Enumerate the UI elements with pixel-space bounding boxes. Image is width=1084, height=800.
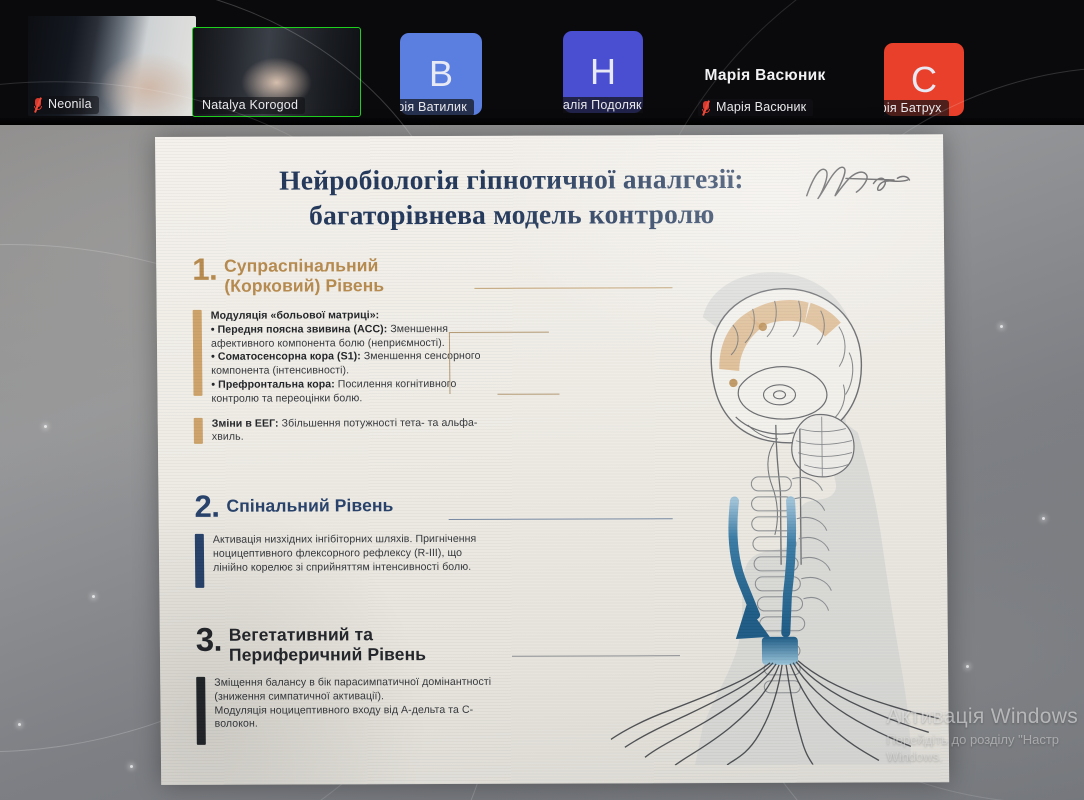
section-2-number: 2. (194, 492, 219, 522)
slide-title-line-2: багаторівнева модель контролю (192, 196, 832, 233)
section-1-number: 1. (192, 255, 217, 285)
section-3-title: Вегетативний та Периферичний Рівень (229, 623, 427, 665)
slide-section-3: 3. Вегетативний та Периферичний Рівень З… (196, 623, 517, 745)
connector-line-s1 (497, 394, 559, 395)
slide-title-line-1: Нейробіологія гіпнотичної аналгезії: (191, 161, 831, 198)
section-2-block-1-text: Активація низхідних інгібіторних шляхів.… (213, 533, 500, 588)
connector-line-acc (449, 332, 550, 394)
section-1-heading: 1. Супраспінальний (Корковий) Рівень (192, 254, 512, 296)
section-1-block-2: Зміни в ЕЕГ: Збільшення потужності тета-… (194, 416, 514, 445)
section-3-block-1-text: Зміщення балансу в бік парасимпатичної д… (214, 676, 501, 745)
participant-name: Наталія Подоляк (563, 99, 642, 112)
avatar-letter: Н (590, 51, 616, 93)
accent-bar (196, 677, 206, 745)
accent-bar (194, 417, 203, 443)
handwritten-signature-icon (801, 156, 922, 210)
brain-spinal-cord-diagram (606, 264, 941, 765)
participant-name: Вікторія Ватилик (400, 101, 467, 114)
section-1-block-2-text: Зміни в ЕЕГ: Збільшення потужності тета-… (212, 416, 498, 445)
presentation-slide[interactable]: Нейробіологія гіпнотичної аналгезії: баг… (155, 134, 949, 785)
section-1-title: Супраспінальний (Корковий) Рівень (224, 254, 384, 296)
section-2-heading: 2. Спінальний Рівень (194, 491, 514, 522)
section-3-heading: 3. Вегетативний та Периферичний Рівень (196, 623, 516, 665)
participant-tile-nataliia-podoliak[interactable]: Н Наталія Подоляк (563, 31, 643, 113)
accent-bar (193, 310, 203, 396)
avatar-letter: В (429, 53, 453, 95)
section-3-number: 3. (196, 624, 222, 656)
participant-nameplate: Вікторія Ватилик (400, 99, 474, 116)
screenshot-root: Neonila Natalya Korogod В Вікторія Ватил… (0, 0, 1084, 800)
section-2-title: Спінальний Рівень (226, 491, 393, 516)
accent-bar (195, 534, 205, 588)
slide-section-2: 2. Спінальний Рівень Активація низхідних… (194, 491, 515, 589)
slide-title: Нейробіологія гіпнотичної аналгезії: баг… (191, 161, 832, 234)
section-2-block-1: Активація низхідних інгібіторних шляхів.… (195, 533, 516, 588)
section-3-block-1: Зміщення балансу в бік парасимпатичної д… (196, 676, 517, 745)
participant-tile-viktoriia-vatylyk[interactable]: В Вікторія Ватилик (400, 33, 482, 115)
participant-nameplate: Наталія Подоляк (563, 97, 643, 113)
